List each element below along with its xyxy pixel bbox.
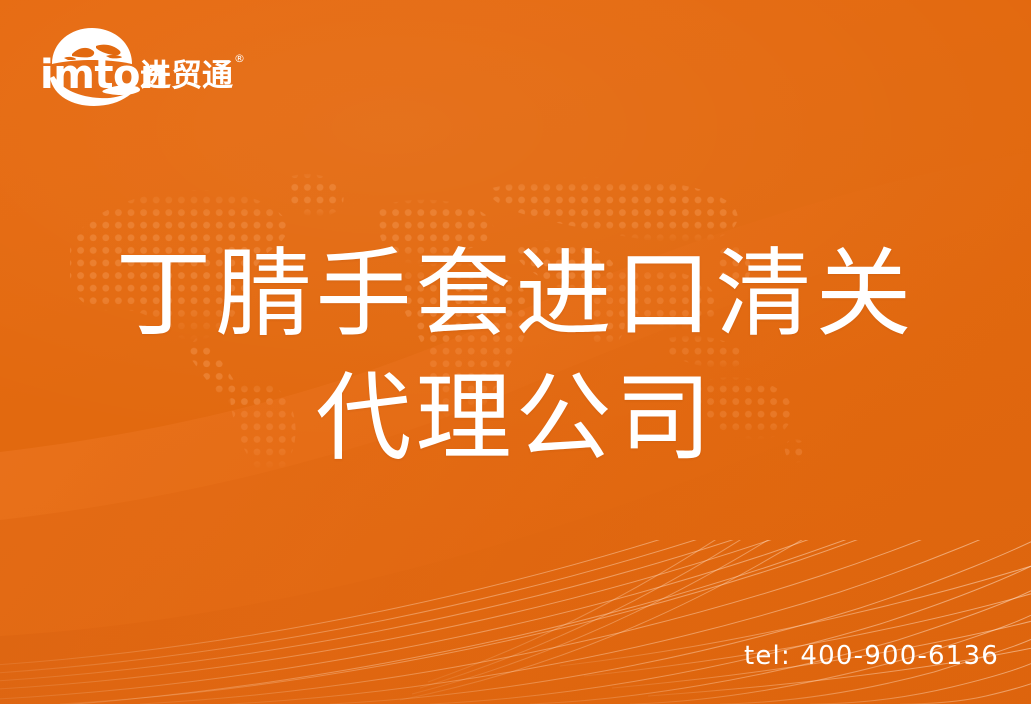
page-title: 丁腈手套进口清关 代理公司 — [0, 232, 1031, 480]
brand-logo[interactable]: imton 进贸通 ® — [34, 26, 264, 106]
page-title-line-1: 丁腈手套进口清关 — [0, 232, 1031, 356]
registered-trademark-icon: ® — [234, 52, 245, 65]
page-title-line-2: 代理公司 — [0, 356, 1031, 480]
poster-canvas: imton 进贸通 ® 丁腈手套进口清关 代理公司 tel: 400-900-6… — [0, 0, 1031, 704]
logo-chinese-name: 进贸通 — [140, 58, 233, 94]
contact-phone[interactable]: tel: 400-900-6136 — [744, 641, 999, 671]
